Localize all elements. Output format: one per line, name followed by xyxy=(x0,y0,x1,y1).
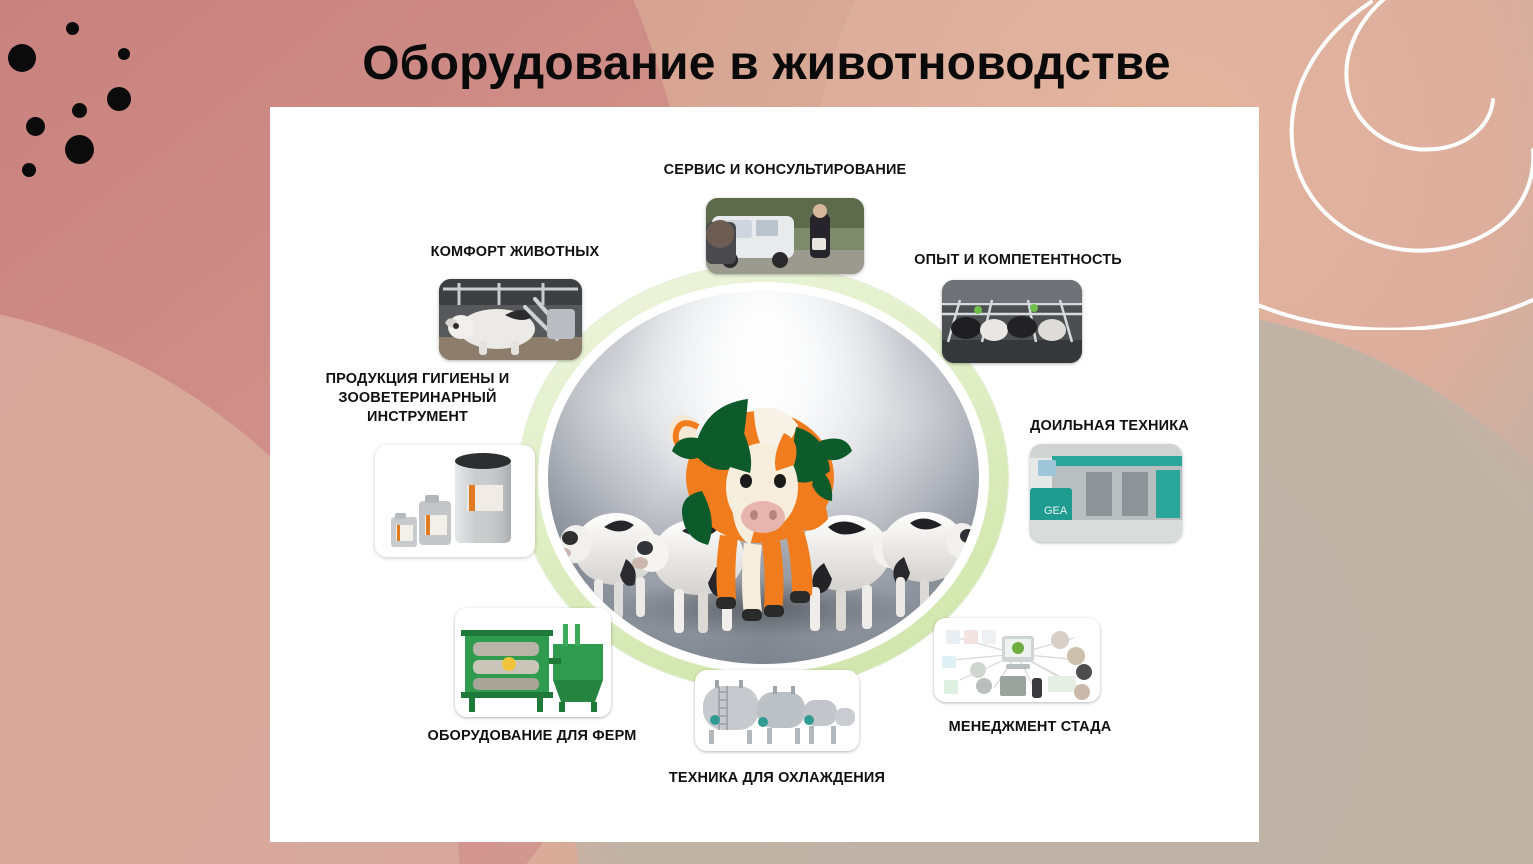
thumb-milking[interactable]: GEA xyxy=(1030,444,1182,542)
label-herd-management: МЕНЕДЖМЕНТ СТАДА xyxy=(910,718,1150,737)
thumb-service[interactable] xyxy=(706,198,864,274)
thumb-hygiene[interactable] xyxy=(375,445,535,557)
circular-diagram: GEA xyxy=(270,107,1259,842)
label-cooling: ТЕХНИКА ДЛЯ ОХЛАЖДЕНИЯ xyxy=(632,769,922,788)
dot-decoration xyxy=(0,0,200,200)
thumb-expertise[interactable] xyxy=(942,280,1082,363)
presentation-slide: Оборудование в животноводстве xyxy=(0,0,1533,864)
thumb-animal-comfort[interactable] xyxy=(439,279,582,360)
label-animal-comfort: КОМФОРТ ЖИВОТНЫХ xyxy=(380,243,650,262)
label-service: СЕРВИС И КОНСУЛЬТИРОВАНИЕ xyxy=(600,161,970,180)
page-title: Оборудование в животноводстве xyxy=(0,36,1533,91)
content-frame: GEA xyxy=(270,107,1259,842)
label-farm-equipment: ОБОРУДОВАНИЕ ДЛЯ ФЕРМ xyxy=(392,727,672,746)
cow-herd-photo xyxy=(548,291,979,664)
label-expertise: ОПЫТ И КОМПЕТЕНТНОСТЬ xyxy=(878,251,1158,270)
label-hygiene: ПРОДУКЦИЯ ГИГИЕНЫ И ЗООВЕТЕРИНАРНЫЙ ИНСТ… xyxy=(290,370,545,427)
svg-text:GEA: GEA xyxy=(1044,505,1068,517)
label-milking: ДОИЛЬНАЯ ТЕХНИКА xyxy=(1030,417,1260,436)
cow-side-right-outer xyxy=(882,512,978,617)
thumb-herd-management[interactable] xyxy=(934,618,1100,702)
thumb-farm-equipment[interactable] xyxy=(455,608,611,717)
thumb-cooling[interactable] xyxy=(695,670,859,751)
